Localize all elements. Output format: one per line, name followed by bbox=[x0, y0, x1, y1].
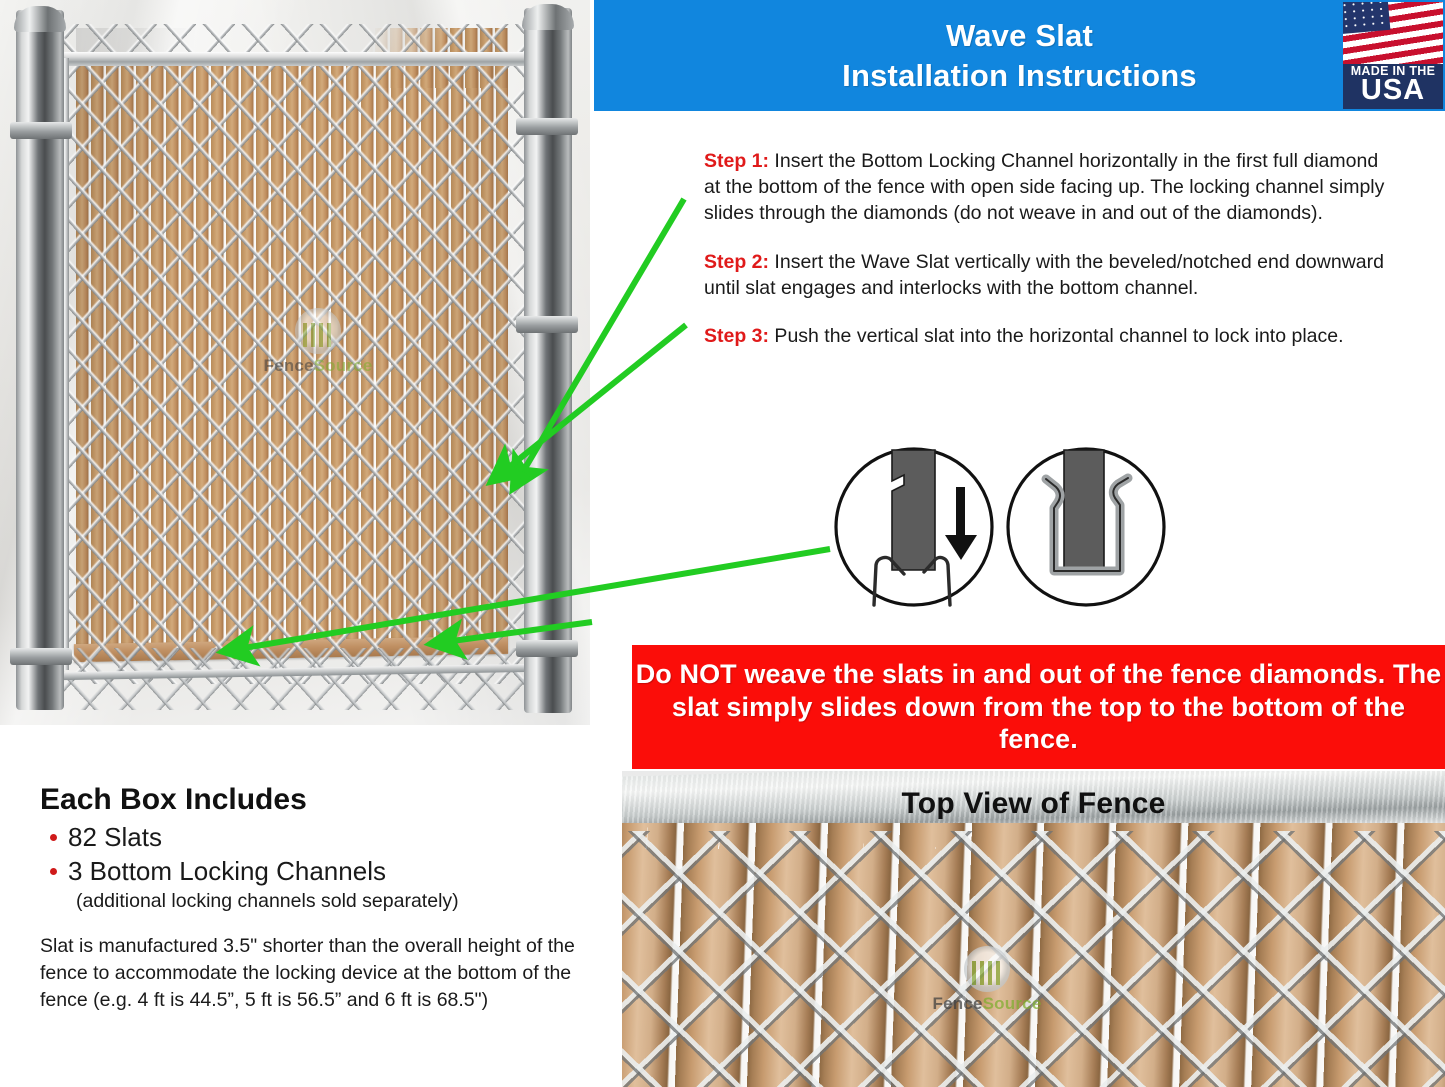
installation-instructions-page: FenceSource Wave Slat Installation Instr… bbox=[0, 0, 1445, 1087]
top-view-fence-photo: Top View of Fence FenceSource bbox=[622, 771, 1445, 1087]
chain-link-mesh-bottom bbox=[62, 648, 532, 710]
made-in-usa-badge: MADE IN THE USA bbox=[1343, 2, 1443, 109]
box-contents-item-label: 3 Bottom Locking Channels bbox=[68, 856, 386, 886]
step-3-label: Step 3: bbox=[704, 325, 769, 347]
box-contents-item: 3 Bottom Locking Channels bbox=[40, 856, 600, 887]
locking-channels-note: (additional locking channels sold separa… bbox=[40, 890, 600, 913]
warning-text: Do NOT weave the slats in and out of the… bbox=[632, 658, 1445, 755]
page-header-banner: Wave Slat Installation Instructions MADE… bbox=[594, 0, 1445, 111]
step-1: Step 1: Insert the Bottom Locking Channe… bbox=[704, 148, 1394, 227]
bullet-icon bbox=[50, 834, 57, 841]
bullet-icon bbox=[50, 868, 57, 875]
slat-measurement-note: Slat is manufactured 3.5" shorter than t… bbox=[40, 933, 600, 1014]
slat-inserting-into-channel-diagram bbox=[836, 449, 992, 605]
step-2: Step 2: Insert the Wave Slat vertically … bbox=[704, 249, 1394, 301]
chain-link-mesh bbox=[62, 24, 532, 684]
locking-detail-diagram bbox=[832, 445, 1172, 610]
fence-installation-photo: FenceSource bbox=[0, 0, 590, 725]
tension-band-right-mid bbox=[516, 316, 578, 333]
wave-slat-shape-seated bbox=[1064, 450, 1104, 571]
flag-canton bbox=[1343, 2, 1390, 34]
fence-post-right bbox=[524, 8, 572, 713]
tension-band-right-top bbox=[516, 118, 578, 135]
tension-band-right-bottom bbox=[516, 640, 578, 657]
page-title: Wave Slat Installation Instructions bbox=[842, 16, 1197, 94]
do-not-weave-warning-banner: Do NOT weave the slats in and out of the… bbox=[632, 645, 1445, 769]
badge-usa-text: USA bbox=[1343, 76, 1443, 105]
box-contents-item: 82 Slats bbox=[40, 822, 600, 853]
step-1-label: Step 1: bbox=[704, 150, 769, 172]
step-2-text: Insert the Wave Slat vertically with the… bbox=[704, 251, 1384, 299]
fence-post-left bbox=[16, 10, 64, 710]
page-title-line2: Installation Instructions bbox=[842, 58, 1197, 93]
slat-locked-in-channel-diagram bbox=[1008, 449, 1164, 605]
top-view-title: Top View of Fence bbox=[622, 787, 1445, 821]
step-instructions: Step 1: Insert the Bottom Locking Channe… bbox=[704, 148, 1394, 349]
step-3-text: Push the vertical slat into the horizont… bbox=[769, 325, 1344, 347]
step-3: Step 3: Push the vertical slat into the … bbox=[704, 323, 1394, 349]
each-box-title: Each Box Includes bbox=[40, 783, 600, 817]
wave-slat-shape bbox=[892, 450, 935, 570]
each-box-includes-section: Each Box Includes 82 Slats 3 Bottom Lock… bbox=[40, 783, 600, 913]
tension-band-left-bottom bbox=[10, 648, 72, 665]
step-1-text: Insert the Bottom Locking Channel horizo… bbox=[704, 150, 1384, 224]
tension-band-left-top bbox=[10, 122, 72, 139]
box-contents-item-label: 82 Slats bbox=[68, 822, 162, 852]
step-2-label: Step 2: bbox=[704, 251, 769, 273]
page-title-line1: Wave Slat bbox=[946, 18, 1093, 53]
fence-top-rail bbox=[62, 52, 540, 66]
usa-flag-icon bbox=[1343, 2, 1443, 64]
top-view-chain-link-mesh bbox=[622, 831, 1445, 1087]
